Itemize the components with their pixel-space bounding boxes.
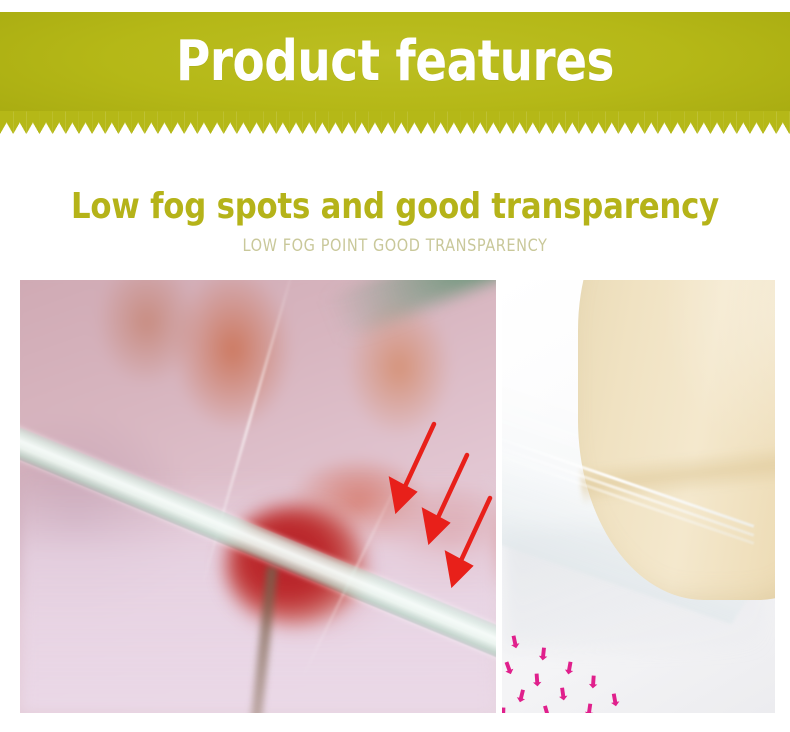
- page-title: Product features: [28, 12, 763, 111]
- pink-arrow-icon: ⬇: [581, 702, 597, 713]
- left-photo-panel: [20, 280, 496, 713]
- pink-arrow-icon: ⬇: [561, 660, 578, 679]
- red-arrow-icon-1: [390, 424, 434, 512]
- right-photo-panel: ⬇ ⬇ ⬇ ⬇ ⬇ ⬇ ⬇ ⬇ ⬇ ⬇ ⬇ ⬇: [502, 280, 775, 713]
- pink-arrow-icon: ⬇: [535, 646, 551, 664]
- pink-arrow-icon: ⬇: [512, 688, 530, 708]
- pink-arrow-icon: ⬇: [555, 686, 571, 705]
- pink-arrow-icon: ⬇: [538, 703, 556, 713]
- red-arrow-icon-2: [423, 455, 467, 543]
- red-arrow-annotations: [20, 280, 496, 713]
- pink-arrow-print-pattern: ⬇ ⬇ ⬇ ⬇ ⬇ ⬇ ⬇ ⬇ ⬇ ⬇ ⬇ ⬇: [502, 617, 646, 713]
- section-subline: LOW FOG POINT GOOD TRANSPARENCY: [20, 236, 771, 256]
- pink-arrow-icon: ⬇: [502, 659, 519, 680]
- pink-arrow-icon: ⬇: [506, 634, 523, 654]
- pink-arrow-icon: ⬇: [529, 673, 544, 691]
- pink-arrow-icon: ⬇: [607, 692, 624, 711]
- pink-arrow-icon: ⬇: [502, 707, 511, 713]
- pink-arrow-icon: ⬇: [585, 675, 600, 693]
- product-features-page: Product features Low fog spots and good …: [0, 0, 790, 732]
- header-banner: Product features: [0, 12, 790, 111]
- red-arrow-icon-3: [446, 498, 490, 586]
- banner-zigzag-edge: [0, 111, 790, 134]
- section-headline: Low fog spots and good transparency: [20, 186, 771, 227]
- photo-row: ⬇ ⬇ ⬇ ⬇ ⬇ ⬇ ⬇ ⬇ ⬇ ⬇ ⬇ ⬇: [20, 280, 775, 713]
